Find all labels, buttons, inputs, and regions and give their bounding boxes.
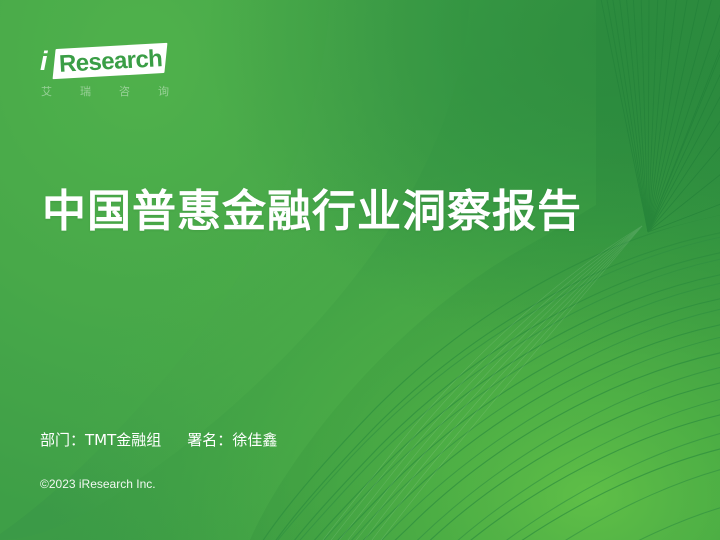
report-cover-slide: i Research 艾 瑞 咨 询 中国普惠金融行业洞察报告 部门：TMT金融… (0, 0, 720, 540)
author-value: 徐佳鑫 (232, 431, 277, 449)
author-label: 署名： (187, 431, 232, 449)
logo-chinese-char-3: 咨 (119, 83, 130, 99)
logo-chinese-char-4: 询 (158, 83, 169, 99)
logo-letter-i: i (40, 46, 47, 76)
byline: 部门：TMT金融组署名：徐佳鑫 (40, 429, 277, 450)
department-value: TMT金融组 (85, 431, 161, 449)
report-title: 中国普惠金融行业洞察报告 (42, 186, 582, 239)
logo-chinese-subtitle: 艾 瑞 咨 询 (41, 83, 169, 99)
copyright-notice: ©2023 iResearch Inc. (40, 477, 156, 491)
iresearch-logo: i Research 艾 瑞 咨 询 (38, 45, 178, 107)
department-label: 部门： (40, 431, 85, 449)
logo-chinese-char-2: 瑞 (80, 83, 91, 99)
logo-chinese-char-1: 艾 (41, 83, 52, 99)
logo-wordmark: Research (58, 44, 163, 80)
logo-mark: i Research (38, 45, 168, 79)
